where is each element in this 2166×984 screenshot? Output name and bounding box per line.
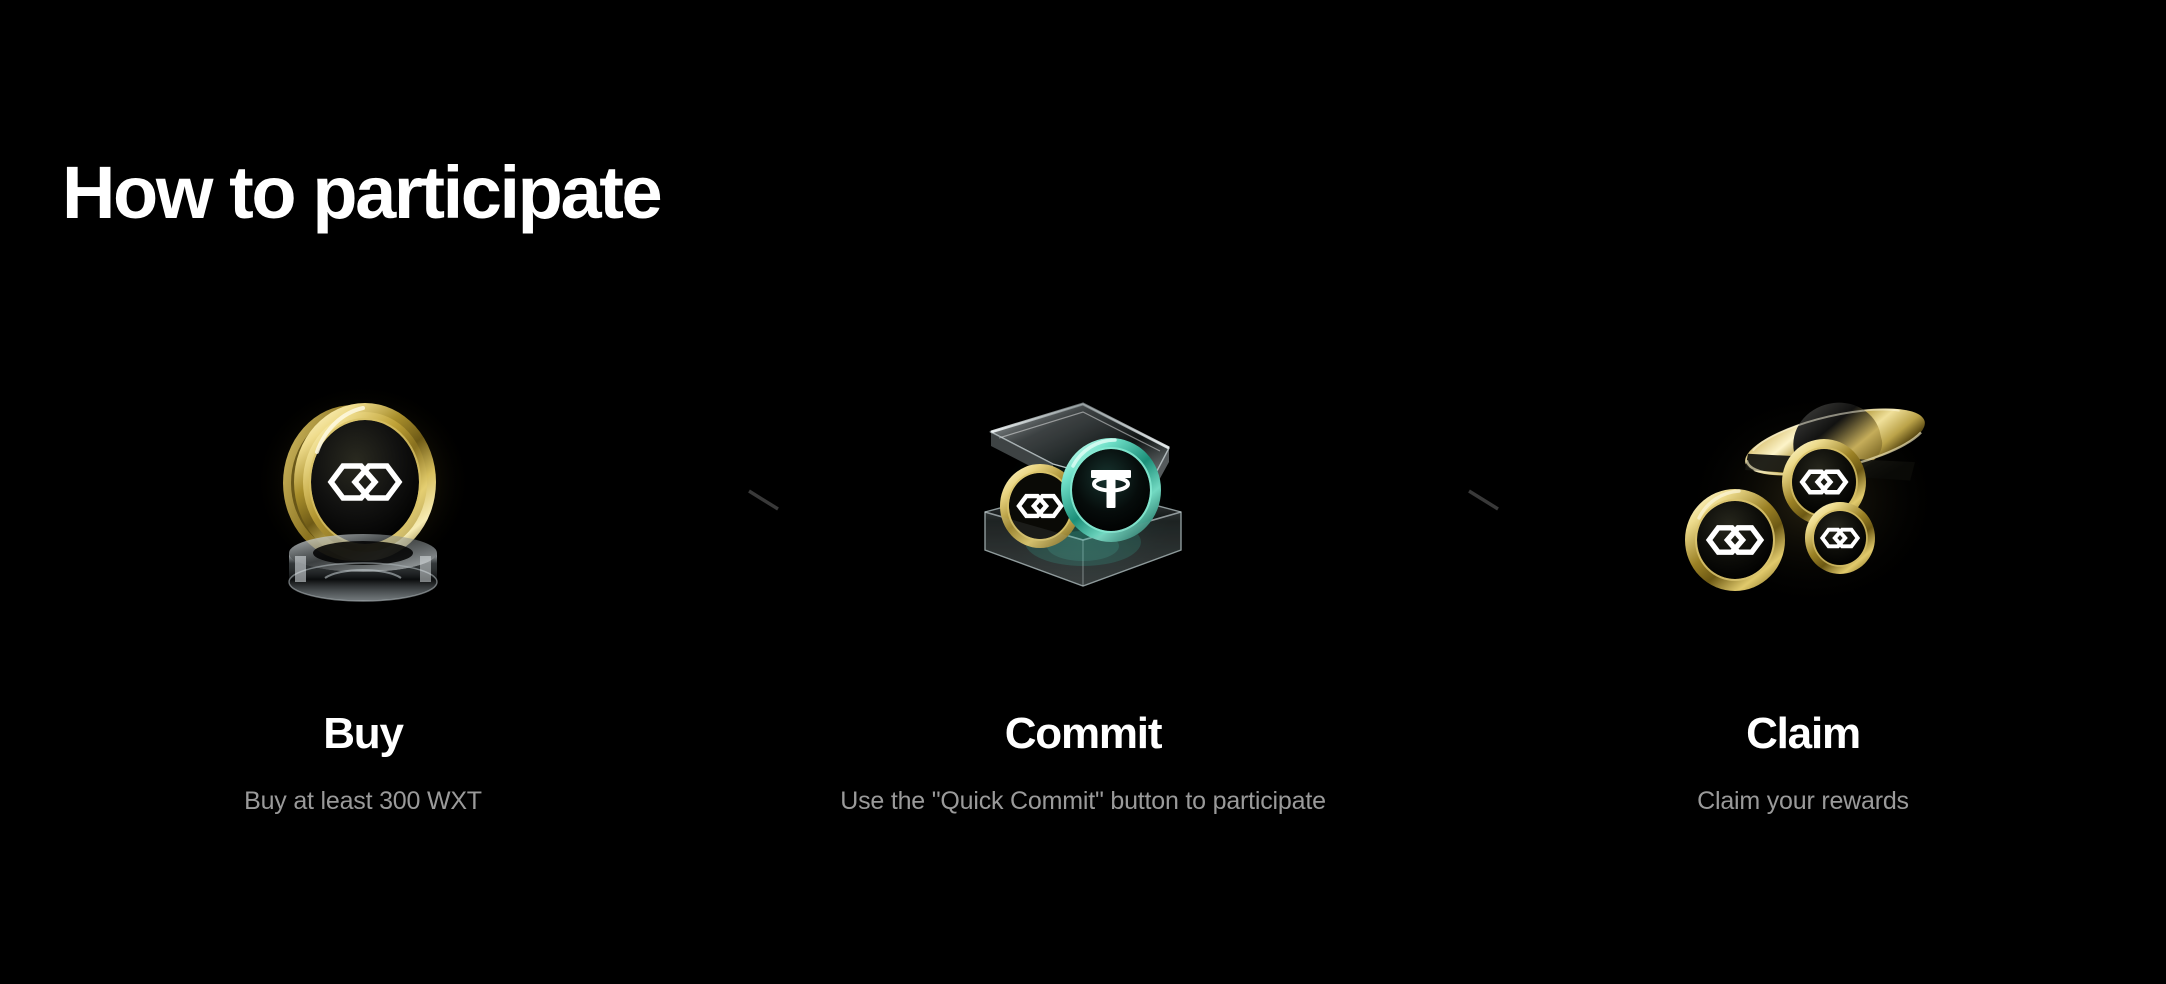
step-description-commit: Use the "Quick Commit" button to partici… xyxy=(840,786,1326,816)
arrow-right-icon xyxy=(623,485,823,525)
step-title-commit: Commit xyxy=(1005,712,1162,756)
wxt-coin-icon-large xyxy=(1685,489,1785,591)
page-title: How to participate xyxy=(62,154,660,232)
how-to-participate-section: How to participate xyxy=(0,0,2166,984)
steps-row: Buy Buy at least 300 WXT xyxy=(0,390,2166,816)
wxt-coin-icon-small xyxy=(1805,502,1875,574)
glass-pedestal xyxy=(289,534,437,601)
arrow-right-icon xyxy=(1343,485,1543,525)
claim-illustration xyxy=(1653,390,1953,620)
step-buy: Buy Buy at least 300 WXT xyxy=(123,390,603,816)
commit-illustration xyxy=(933,390,1233,620)
step-description-claim: Claim your rewards xyxy=(1697,786,1909,816)
connector-buy-to-commit xyxy=(603,390,843,620)
step-claim: Claim Claim your rewards xyxy=(1563,390,2043,816)
step-description-buy: Buy at least 300 WXT xyxy=(244,786,482,816)
coin-face xyxy=(311,420,419,544)
step-commit: Commit Use the "Quick Commit" button to … xyxy=(843,390,1323,816)
connector-commit-to-claim xyxy=(1323,390,1563,620)
step-title-claim: Claim xyxy=(1746,712,1860,756)
step-title-buy: Buy xyxy=(323,712,403,756)
buy-illustration xyxy=(213,390,513,620)
